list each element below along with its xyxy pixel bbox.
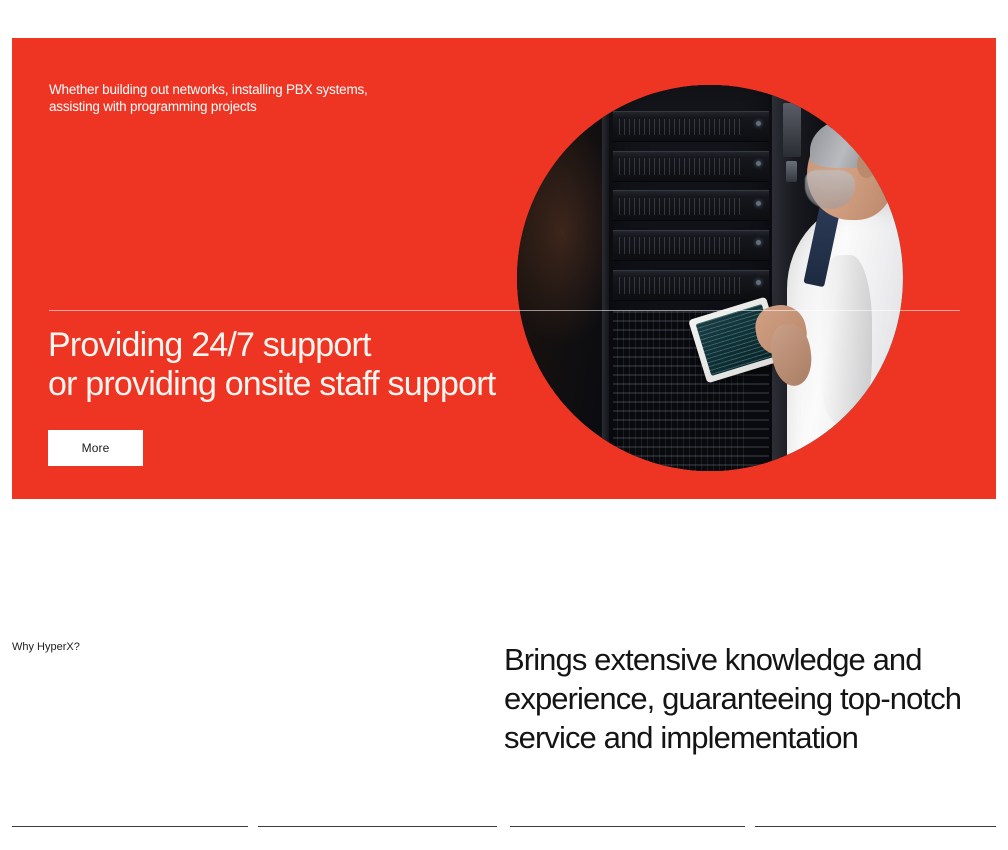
divider-segment-3 <box>510 826 745 827</box>
server-blade <box>613 151 769 182</box>
server-room-technician-photo <box>517 85 903 471</box>
rack-side-glow <box>517 116 602 348</box>
server-blade <box>613 190 769 221</box>
technician-shirt-fold <box>818 255 872 425</box>
hero-subtitle: Whether building out networks, installin… <box>49 81 379 115</box>
divider-segment-2 <box>258 826 497 827</box>
hero-section: Whether building out networks, installin… <box>12 38 996 499</box>
divider-segment-4 <box>755 826 996 827</box>
cabinet-handle <box>786 161 797 182</box>
technician-ear <box>857 151 876 178</box>
about-section-heading: Brings extensive knowledge and experienc… <box>504 640 996 757</box>
photo-inner <box>517 85 903 471</box>
cabinet-latch <box>783 103 801 157</box>
server-blade <box>613 230 769 261</box>
divider-segment-1 <box>12 826 248 827</box>
more-button[interactable]: More <box>48 430 143 466</box>
hero-title: Providing 24/7 support or providing onsi… <box>48 326 495 404</box>
hero-horizontal-rule <box>49 310 960 311</box>
bottom-divider-group <box>0 826 1008 828</box>
page-root: Whether building out networks, installin… <box>0 0 1008 850</box>
rack-rail-left <box>602 85 609 471</box>
server-blade <box>613 111 769 142</box>
section-eyebrow-why-hyperx: Why HyperX? <box>12 640 80 654</box>
technician-beard <box>805 170 855 209</box>
server-rack <box>602 85 780 471</box>
server-blade <box>613 270 769 301</box>
